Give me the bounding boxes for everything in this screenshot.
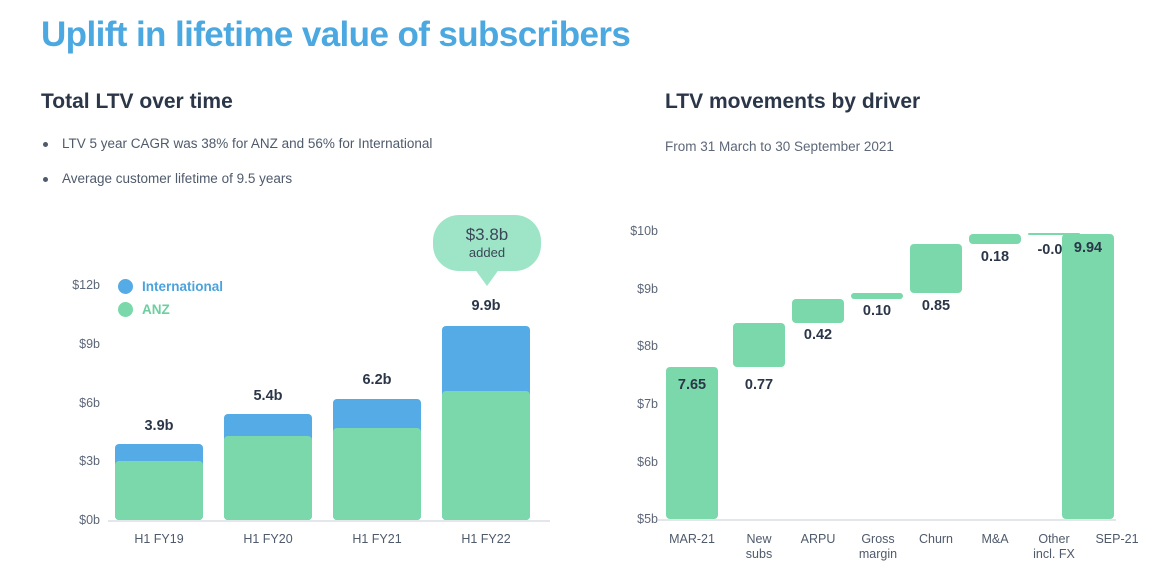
y-axis-tick: $8b	[610, 339, 658, 353]
waterfall-value-label: 0.85	[910, 298, 962, 314]
bar-total-label: 5.4b	[224, 388, 312, 404]
x-axis-tick: Other incl. FX	[1023, 532, 1085, 562]
slide-root: Uplift in lifetime value of subscribers …	[0, 0, 1152, 578]
x-axis-tick: MAR-21	[658, 532, 726, 547]
bar-segment-anz[interactable]	[442, 391, 530, 520]
x-axis-tick-line: New	[731, 532, 787, 547]
bar-total-label: 9.9b	[442, 298, 530, 314]
x-axis-tick-line: Gross	[848, 532, 908, 547]
right-panel: LTV movements by driver From 31 March to…	[600, 0, 1152, 578]
legend-item-anz: ANZ	[118, 298, 223, 321]
legend-swatch-icon	[118, 302, 133, 317]
x-axis-tick-line: Other	[1023, 532, 1085, 547]
callout-amount: $3.8b	[466, 225, 509, 245]
y-axis-tick: $9b	[56, 337, 100, 351]
legend-label: International	[142, 279, 223, 294]
bullet-text: Average customer lifetime of 9.5 years	[62, 171, 292, 186]
bullet-text: LTV 5 year CAGR was 38% for ANZ and 56% …	[62, 136, 432, 151]
y-axis-tick: $6b	[56, 396, 100, 410]
bar-total-label: 6.2b	[333, 372, 421, 388]
x-axis-tick: Churn	[908, 532, 964, 547]
bar-segment-anz[interactable]	[115, 461, 203, 520]
x-axis-tick-line: Churn	[908, 532, 964, 547]
list-item: LTV 5 year CAGR was 38% for ANZ and 56% …	[41, 136, 432, 152]
x-axis-tick: New subs	[731, 532, 787, 562]
y-axis-tick: $12b	[56, 278, 100, 292]
left-panel-bullets: LTV 5 year CAGR was 38% for ANZ and 56% …	[41, 136, 432, 206]
left-panel: Total LTV over time LTV 5 year CAGR was …	[0, 0, 600, 578]
y-axis-tick: $6b	[610, 455, 658, 469]
waterfall-bar-gross-margin[interactable]	[851, 293, 903, 299]
callout-tail-icon	[474, 268, 500, 286]
waterfall-bar-m-and-a[interactable]	[969, 234, 1021, 244]
y-axis-tick: $9b	[610, 282, 658, 296]
bar-total-label: 3.9b	[115, 418, 203, 434]
y-axis-tick: $7b	[610, 397, 658, 411]
bullet-dot-icon	[43, 177, 48, 182]
waterfall-value-label: 0.18	[969, 249, 1021, 265]
y-axis-tick: $3b	[56, 454, 100, 468]
callout-bubble: $3.8b added	[433, 215, 541, 271]
y-axis-tick: $5b	[610, 512, 658, 526]
legend-item-international: International	[118, 275, 223, 298]
x-axis-tick: ARPU	[790, 532, 846, 547]
waterfall-value-label: 9.94	[1062, 240, 1114, 256]
waterfall-bar-churn[interactable]	[910, 244, 962, 293]
list-item: Average customer lifetime of 9.5 years	[41, 171, 432, 187]
legend-label: ANZ	[142, 302, 170, 317]
x-axis-line	[108, 520, 550, 522]
right-panel-subtitle: From 31 March to 30 September 2021	[665, 139, 894, 154]
x-axis-tick-line: ARPU	[790, 532, 846, 547]
y-axis-tick: $0b	[56, 513, 100, 527]
x-axis-tick-line: subs	[731, 547, 787, 562]
x-axis-tick: SEP-21	[1086, 532, 1148, 547]
waterfall-bar-arpu[interactable]	[792, 299, 844, 323]
x-axis-tick: H1 FY20	[224, 532, 312, 547]
waterfall-value-label: 7.65	[666, 377, 718, 393]
bar-segment-anz[interactable]	[224, 436, 312, 520]
x-axis-tick: H1 FY19	[115, 532, 203, 547]
legend-swatch-icon	[118, 279, 133, 294]
x-axis-tick-line: SEP-21	[1086, 532, 1148, 547]
y-axis-tick: $10b	[610, 224, 658, 238]
x-axis-tick: H1 FY21	[333, 532, 421, 547]
bar-segment-anz[interactable]	[333, 428, 421, 520]
x-axis-line	[658, 519, 1116, 521]
callout-caption: added	[469, 245, 505, 261]
x-axis-tick-line: M&A	[967, 532, 1023, 547]
x-axis-tick-line: incl. FX	[1023, 547, 1085, 562]
bullet-dot-icon	[43, 142, 48, 147]
x-axis-tick: H1 FY22	[442, 532, 530, 547]
waterfall-bar-sep-21[interactable]	[1062, 234, 1114, 519]
right-panel-title: LTV movements by driver	[665, 90, 920, 114]
waterfall-value-label: 0.77	[733, 377, 785, 393]
x-axis-tick: Gross margin	[848, 532, 908, 562]
x-axis-tick: M&A	[967, 532, 1023, 547]
x-axis-tick-line: margin	[848, 547, 908, 562]
waterfall-value-label: 0.42	[792, 327, 844, 343]
waterfall-bar-new-subs[interactable]	[733, 323, 785, 367]
left-panel-title: Total LTV over time	[41, 90, 233, 114]
waterfall-value-label: 0.10	[851, 303, 903, 319]
chart-legend: International ANZ	[118, 275, 223, 321]
x-axis-tick-line: MAR-21	[658, 532, 726, 547]
